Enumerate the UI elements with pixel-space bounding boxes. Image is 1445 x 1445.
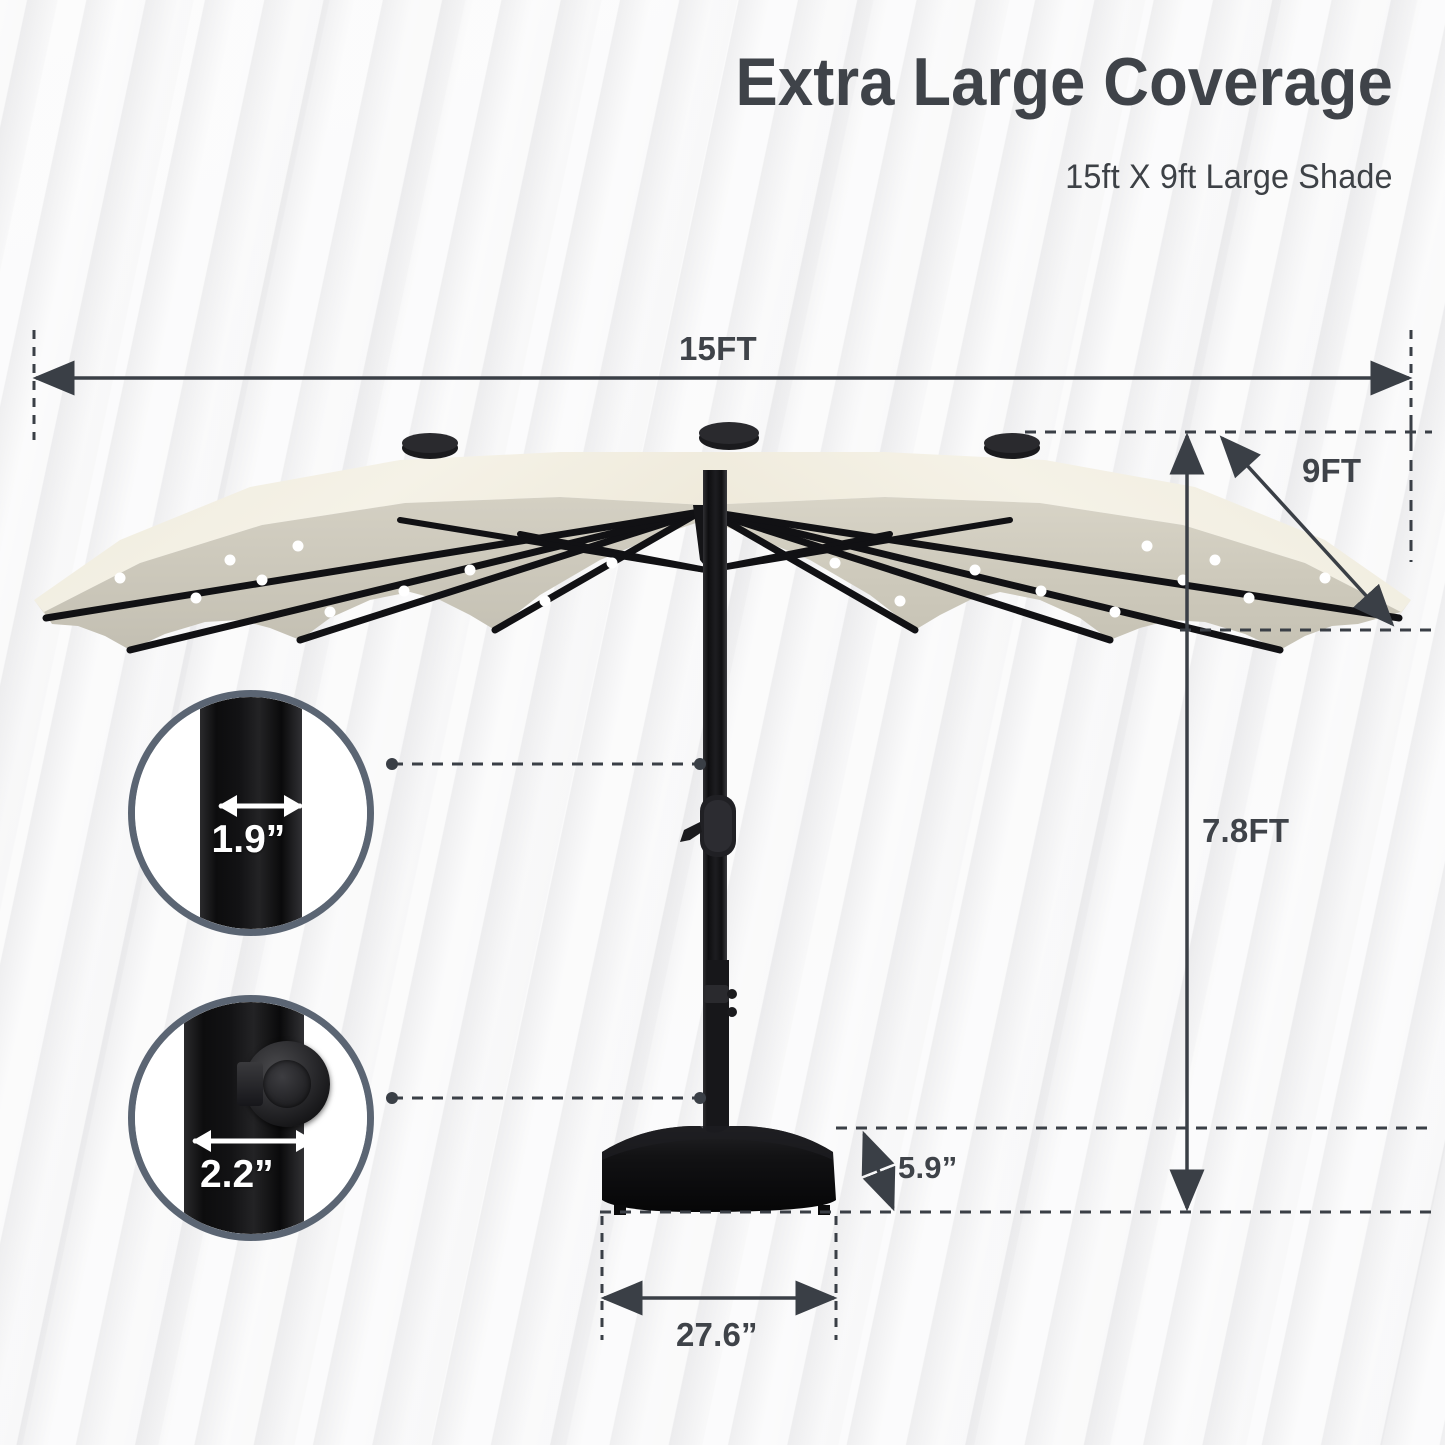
dimension-label-base-height: 5.9” bbox=[898, 1150, 957, 1186]
canopy-top-left bbox=[34, 452, 705, 612]
lower-pole-diameter-value: 2.2” bbox=[200, 1153, 274, 1197]
dimension-line-base-height bbox=[864, 1134, 893, 1208]
callout-leader-lower bbox=[386, 1092, 706, 1104]
canopy-ribs-right bbox=[710, 512, 1399, 650]
callout-pole-diameter-inner: 1.9” bbox=[135, 697, 367, 929]
dimension-label-width: 15FT bbox=[679, 330, 757, 368]
canopy-struts-left bbox=[400, 520, 706, 570]
canopy-ribs-left bbox=[46, 512, 700, 650]
led-lights bbox=[115, 541, 1331, 618]
pole-diameter-value: 1.9” bbox=[212, 818, 286, 862]
callout-lower-pole-diameter: 2.2” bbox=[128, 995, 374, 1241]
canopy-hub bbox=[693, 505, 726, 575]
umbrella-base bbox=[602, 1126, 836, 1215]
umbrella-pole-lower bbox=[707, 960, 729, 1160]
page-subtitle: 15ft X 9ft Large Shade bbox=[1066, 158, 1393, 197]
dimension-label-base-width: 27.6” bbox=[676, 1316, 758, 1354]
page-title: Extra Large Coverage bbox=[736, 48, 1393, 116]
callout-lower-pole-inner: 2.2” bbox=[135, 1002, 367, 1234]
canopy-vent-caps bbox=[402, 422, 1040, 459]
crank-mechanism bbox=[680, 795, 736, 857]
dimension-label-depth: 9FT bbox=[1302, 452, 1361, 490]
infographic-canvas: Extra Large Coverage 15ft X 9ft Large Sh… bbox=[0, 0, 1445, 1445]
pole-adjust-collar bbox=[703, 985, 737, 1017]
dimension-label-height: 7.8FT bbox=[1202, 812, 1289, 850]
canopy-underside-right bbox=[705, 497, 1401, 650]
canopy-struts-right bbox=[708, 520, 1010, 570]
knob-tab-graphic bbox=[237, 1062, 263, 1106]
callout-pole-diameter: 1.9” bbox=[128, 690, 374, 936]
umbrella-pole bbox=[703, 470, 727, 1160]
callout-leader-upper bbox=[386, 758, 706, 770]
canopy-underside-left bbox=[44, 497, 705, 650]
